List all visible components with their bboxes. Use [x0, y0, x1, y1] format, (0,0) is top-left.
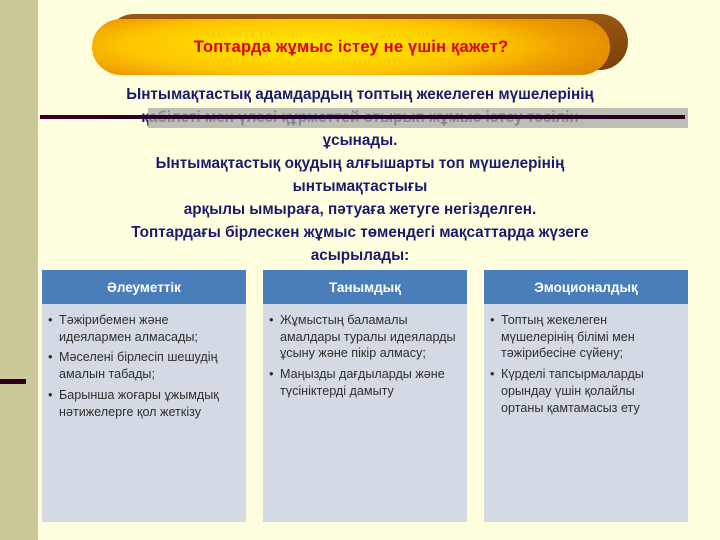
list-item: Күрделі тапсырмаларды орындау үшін қолай… — [490, 366, 680, 416]
bullet-list-cognitive: Жұмыстың баламалы амалдары туралы идеяла… — [269, 312, 459, 400]
horizontal-rule-stub — [0, 379, 26, 384]
horizontal-rule — [40, 115, 685, 119]
columns-container: Әлеуметтік Тәжірибемен және идеялармен а… — [42, 270, 688, 522]
body-line-1: Ынтымақтастық адамдардың топтың жекелеге… — [44, 84, 676, 107]
page-title: Топтарда жұмыс істеу не үшін қажет? — [92, 19, 610, 75]
list-item: Топтың жекелеген мүшелерінің білімі мен … — [490, 312, 680, 362]
bullet-list-social: Тәжірибемен және идеялармен алмасады; Мә… — [48, 312, 238, 420]
list-item: Барынша жоғары ұжымдық нәтижелерге қол ж… — [48, 387, 238, 420]
body-line-7: Топтардағы бірлескен жұмыс төмендегі мақ… — [44, 222, 676, 245]
column-body-social: Тәжірибемен және идеялармен алмасады; Мә… — [42, 304, 246, 522]
body-line-4: Ынтымақтастық оқудың алғышарты топ мүшел… — [44, 153, 676, 176]
list-item: Жұмыстың баламалы амалдары туралы идеяла… — [269, 312, 459, 362]
column-social: Әлеуметтік Тәжірибемен және идеялармен а… — [42, 270, 246, 522]
column-cognitive: Танымдық Жұмыстың баламалы амалдары тура… — [263, 270, 467, 522]
column-body-cognitive: Жұмыстың баламалы амалдары туралы идеяла… — [263, 304, 467, 522]
list-item: Мәселені бірлесіп шешудің амалын табады; — [48, 349, 238, 382]
body-line-5: ынтымақтастығы — [44, 176, 676, 199]
left-decorative-band — [0, 0, 38, 540]
list-item: Тәжірибемен және идеялармен алмасады; — [48, 312, 238, 345]
body-line-8: асырылады: — [44, 245, 676, 268]
column-header-emotional: Эмоционалдық — [484, 270, 688, 304]
slide-title-banner: Топтарда жұмыс істеу не үшін қажет? — [92, 14, 628, 76]
list-item: Маңызды дағдыларды және түсініктерді дам… — [269, 366, 459, 399]
body-line-3: ұсынады. — [44, 130, 676, 153]
bullet-list-emotional: Топтың жекелеген мүшелерінің білімі мен … — [490, 312, 680, 416]
column-emotional: Эмоционалдық Топтың жекелеген мүшелеріні… — [484, 270, 688, 522]
column-body-emotional: Топтың жекелеген мүшелерінің білімі мен … — [484, 304, 688, 522]
column-header-cognitive: Танымдық — [263, 270, 467, 304]
slide-canvas: Топтарда жұмыс істеу не үшін қажет? Ынты… — [0, 0, 720, 540]
column-header-social: Әлеуметтік — [42, 270, 246, 304]
body-line-6: арқылы ымыраға, пәтуаға жетуге негізделг… — [44, 199, 676, 222]
